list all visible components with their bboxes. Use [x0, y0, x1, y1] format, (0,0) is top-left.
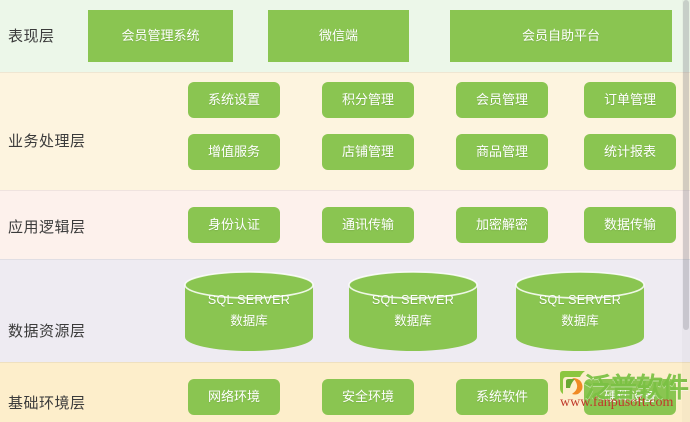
box-wechat-client[interactable]: 微信端 [268, 10, 409, 62]
box-value-added-services[interactable]: 增值服务 [188, 134, 280, 170]
box-order-management[interactable]: 订单管理 [584, 82, 676, 118]
band-divider [0, 362, 690, 363]
layer-label-logic: 应用逻辑层 [8, 216, 86, 237]
cylinder-shape [183, 271, 315, 351]
database-cylinder-2[interactable]: SQL SERVER 数据库 [347, 271, 479, 351]
cylinder-shape [514, 271, 646, 351]
box-encryption-decryption[interactable]: 加密解密 [456, 207, 548, 243]
box-points-management[interactable]: 积分管理 [322, 82, 414, 118]
database-cylinder-1[interactable]: SQL SERVER 数据库 [183, 271, 315, 351]
box-security-environment[interactable]: 安全环境 [322, 379, 414, 415]
database-cylinder-3[interactable]: SQL SERVER 数据库 [514, 271, 646, 351]
band-divider [0, 190, 690, 191]
cylinder-shape [347, 271, 479, 351]
layer-label-infra: 基础环境层 [8, 392, 86, 413]
layer-label-business: 业务处理层 [8, 130, 86, 151]
box-member-management[interactable]: 会员管理 [456, 82, 548, 118]
box-identity-authentication[interactable]: 身份认证 [188, 207, 280, 243]
scrollbar-track[interactable] [682, 0, 690, 422]
scrollbar-thumb[interactable] [683, 0, 689, 330]
box-hardware-equipment[interactable]: 硬件设备 [584, 379, 676, 415]
band-divider [0, 259, 690, 260]
box-network-environment[interactable]: 网络环境 [188, 379, 280, 415]
box-statistical-reports[interactable]: 统计报表 [584, 134, 676, 170]
band-divider [0, 72, 690, 73]
layer-label-data: 数据资源层 [8, 320, 86, 341]
box-member-self-service-platform[interactable]: 会员自助平台 [450, 10, 672, 62]
architecture-diagram: 表现层 业务处理层 应用逻辑层 数据资源层 基础环境层 会员管理系统 微信端 会… [0, 0, 690, 422]
box-data-transmission[interactable]: 数据传输 [584, 207, 676, 243]
box-member-management-system[interactable]: 会员管理系统 [88, 10, 233, 62]
layer-label-presentation: 表现层 [8, 25, 55, 46]
box-system-settings[interactable]: 系统设置 [188, 82, 280, 118]
box-system-software[interactable]: 系统软件 [456, 379, 548, 415]
box-communication-transmission[interactable]: 通讯传输 [322, 207, 414, 243]
box-store-management[interactable]: 店铺管理 [322, 134, 414, 170]
box-product-management[interactable]: 商品管理 [456, 134, 548, 170]
